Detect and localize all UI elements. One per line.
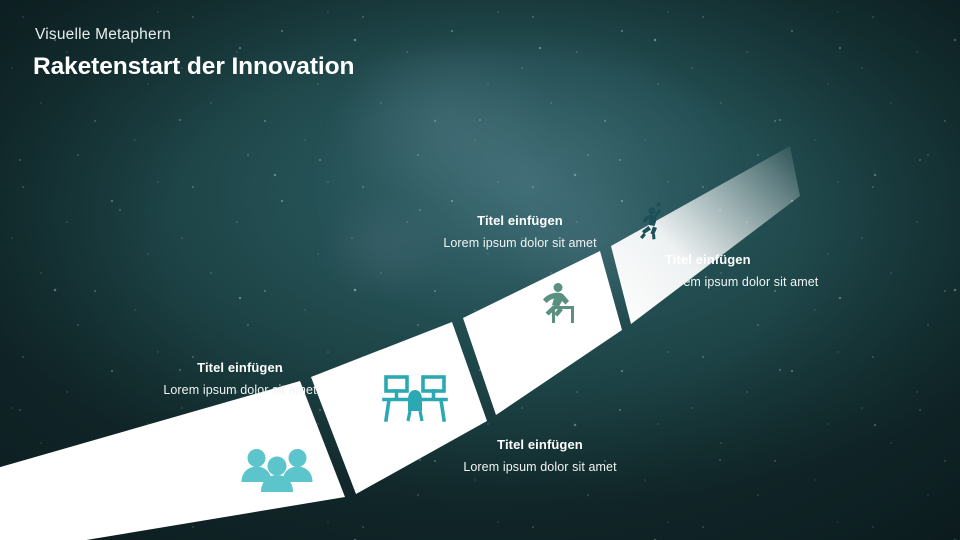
step-2-label: Titel einfügen Lorem ipsum dolor sit ame… (420, 437, 660, 476)
slide-kicker: Visuelle Metaphern (35, 26, 354, 45)
path-segment-3[interactable] (463, 251, 622, 415)
victory-runner-icon (633, 202, 667, 242)
step-3-title: Titel einfügen (400, 213, 640, 229)
step-4-title: Titel einfügen (665, 252, 905, 268)
step-1-label: Titel einfügen Lorem ipsum dolor sit ame… (120, 360, 360, 399)
slide-header: Visuelle Metaphern Raketenstart der Inno… (33, 26, 354, 81)
step-2-title: Titel einfügen (420, 437, 660, 453)
step-4-icon-wrapper (633, 202, 667, 247)
step-4-description: Lorem ipsum dolor sit amet (665, 275, 905, 291)
slide-canvas: Visuelle Metaphern Raketenstart der Inno… (0, 0, 960, 540)
step-1-icon-wrapper (240, 445, 314, 500)
step-3-icon-wrapper (532, 282, 580, 331)
step-3-description: Lorem ipsum dolor sit amet (400, 236, 640, 252)
step-4-label: Titel einfügen Lorem ipsum dolor sit ame… (665, 252, 905, 291)
step-3-label: Titel einfügen Lorem ipsum dolor sit ame… (400, 213, 640, 252)
people-group-icon (240, 445, 314, 495)
workstation-desk-icon (381, 373, 449, 423)
step-2-icon-wrapper (381, 373, 449, 428)
hurdle-runner-icon (532, 282, 580, 326)
step-2-description: Lorem ipsum dolor sit amet (420, 460, 660, 476)
page-title: Raketenstart der Innovation (33, 53, 354, 81)
step-1-title: Titel einfügen (120, 360, 360, 376)
step-1-description: Lorem ipsum dolor sit amet (120, 383, 360, 399)
